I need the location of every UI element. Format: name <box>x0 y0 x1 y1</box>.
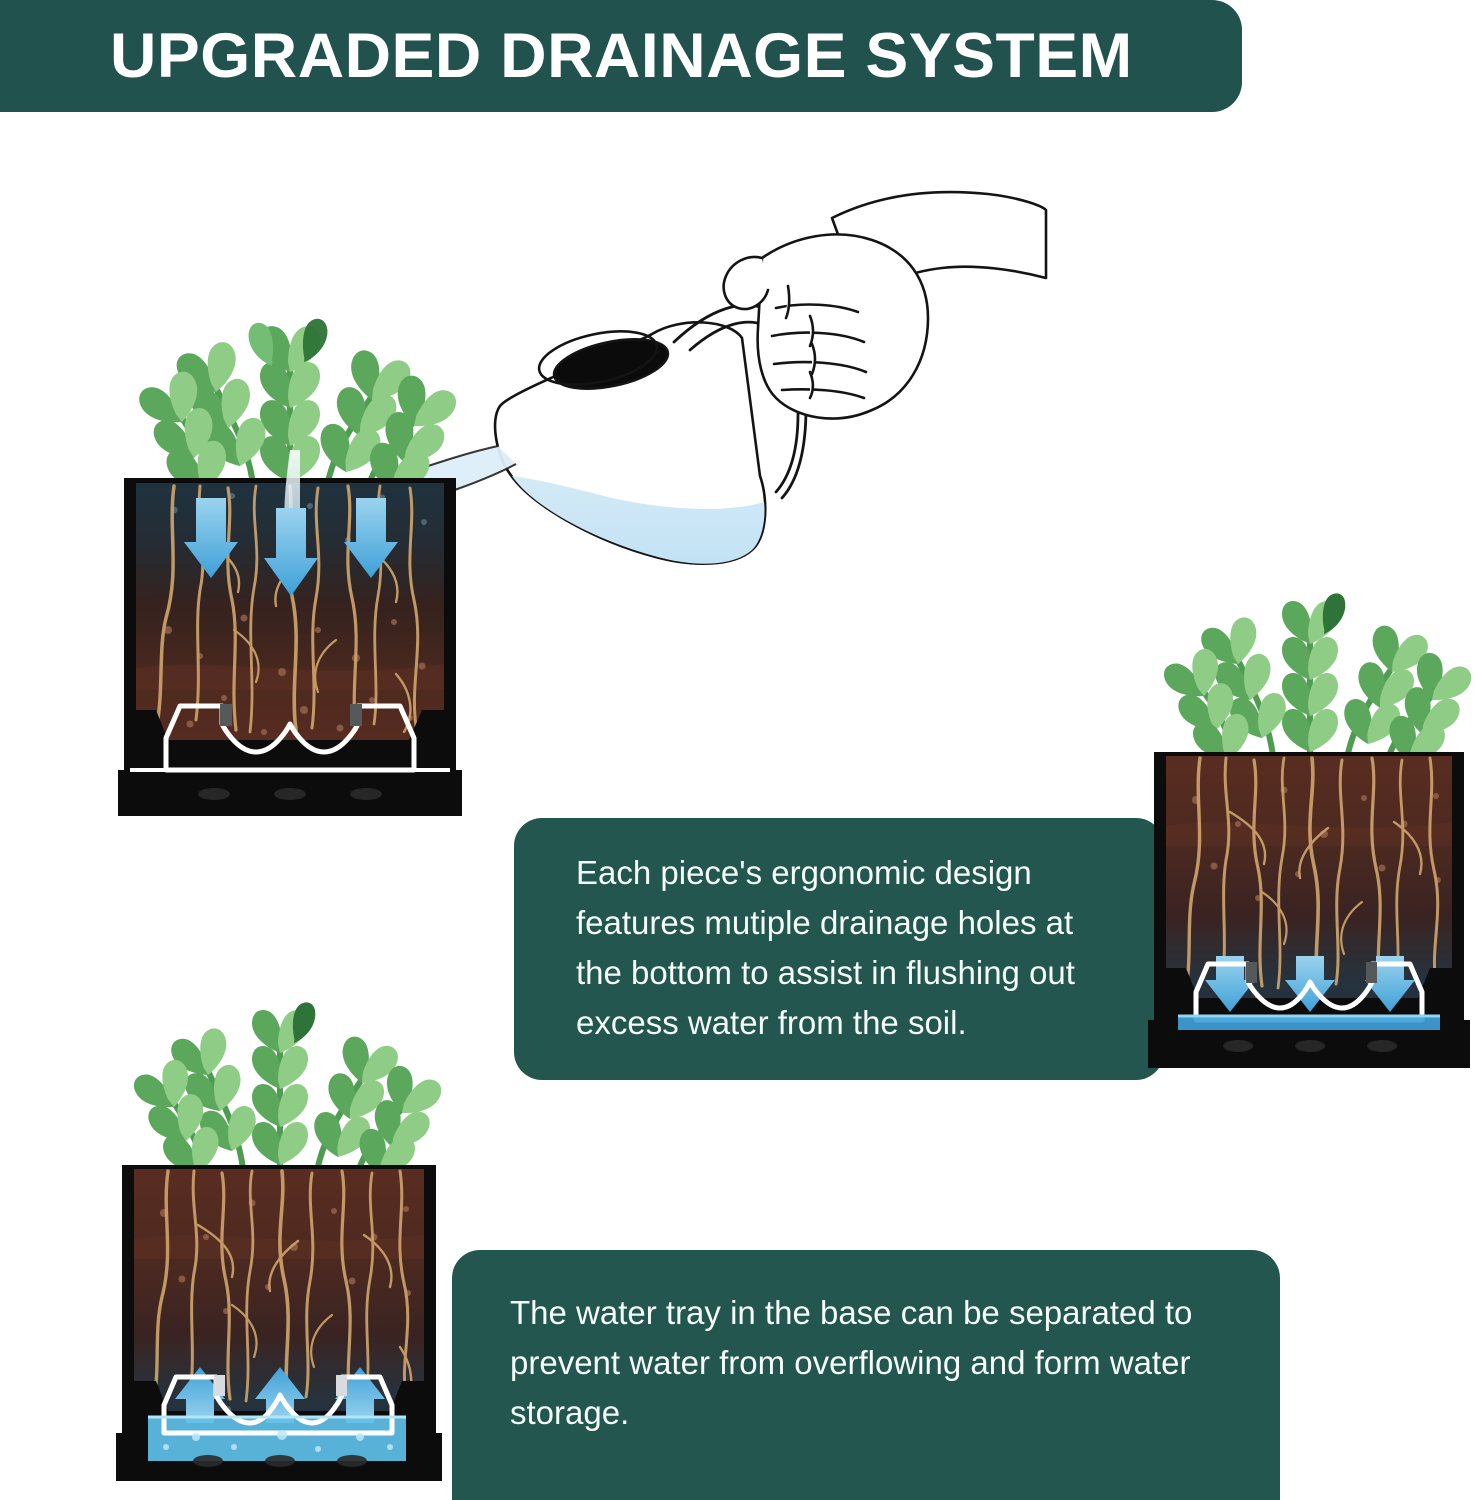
callout-2-text: The water tray in the base can be separa… <box>510 1288 1240 1438</box>
infographic-canvas: UPGRADED DRAINAGE SYSTEM <box>0 0 1478 1500</box>
succulent-foliage <box>1160 592 1475 769</box>
callout-drainage-holes: Each piece's ergonomic design features m… <box>514 818 1164 1080</box>
planter-watering-cross-section <box>104 300 476 845</box>
header-banner: UPGRADED DRAINAGE SYSTEM <box>0 0 1242 112</box>
planter-wicking-cross-section <box>104 985 454 1500</box>
callout-1-text: Each piece's ergonomic design features m… <box>576 848 1128 1049</box>
planter-draining-cross-section <box>1138 568 1478 1098</box>
succulent-foliage <box>130 1001 445 1182</box>
hand-watering-can <box>476 158 1046 603</box>
page-title: UPGRADED DRAINAGE SYSTEM <box>110 25 1133 88</box>
callout-water-tray: The water tray in the base can be separa… <box>452 1250 1280 1500</box>
hand-outline <box>724 234 928 418</box>
